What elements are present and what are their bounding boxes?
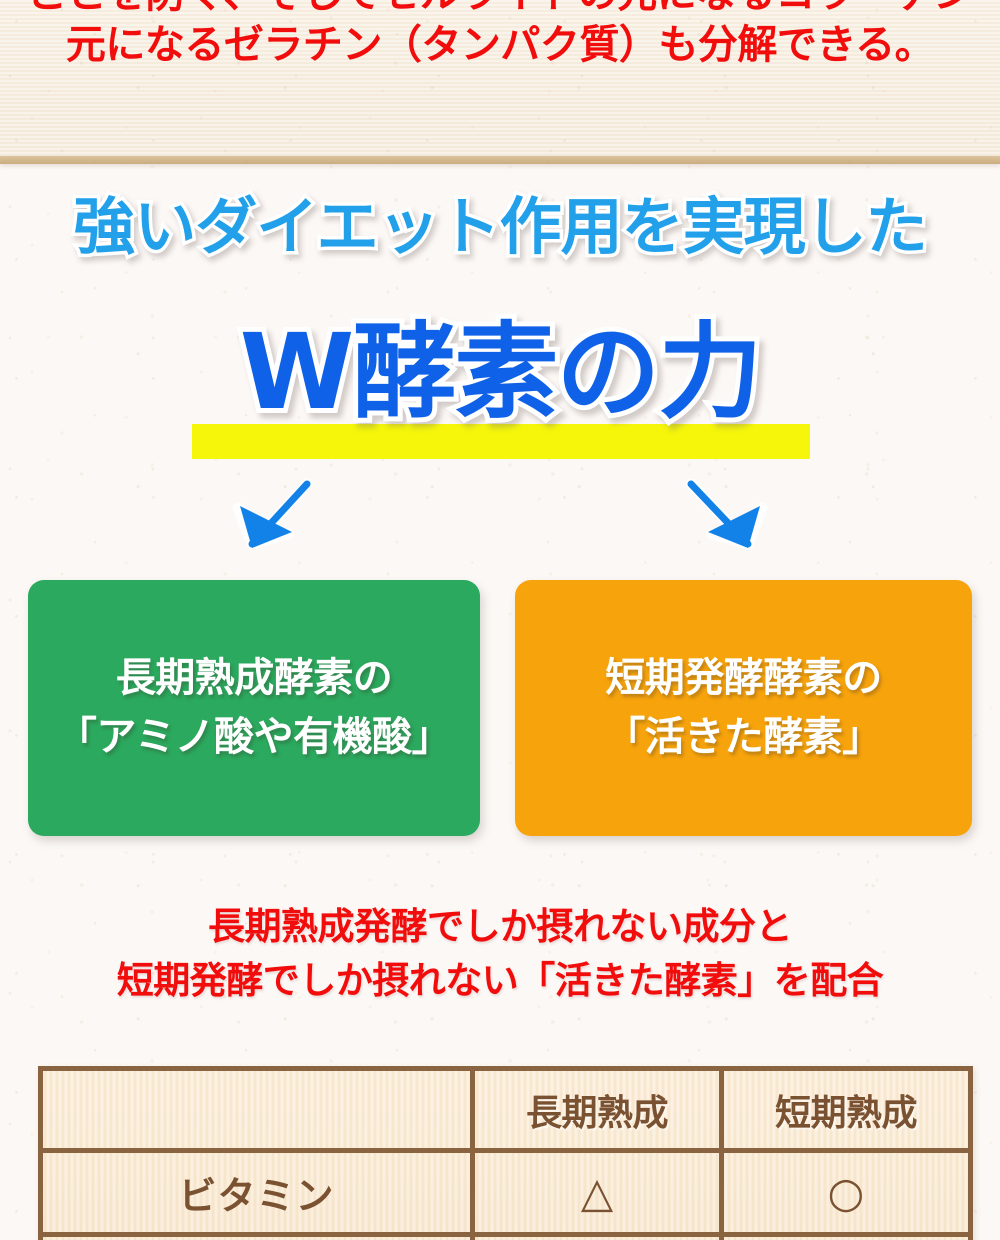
rating-mark: △ — [581, 1168, 613, 1217]
section-divider — [0, 156, 1000, 164]
table-cell-label: ビタミン — [41, 1151, 473, 1235]
headline-line-1: 強いダイエット作用を実現した — [0, 196, 1000, 258]
top-banner-line-2: 元になるゼラチン（タンパク質）も分解できる。 — [0, 25, 1000, 65]
card-short-fermented-line-2: 「活きた酵素」 — [605, 708, 882, 767]
rating-mark: ○ — [828, 1168, 865, 1217]
comparison-table-wrapper: 長期熟成 短期熟成 ビタミン △ ○ — [38, 1066, 968, 1240]
top-banner: ことを防ぐ、そしてセルライトの元になるコラーゲン 元になるゼラチン（タンパク質）… — [0, 0, 1000, 156]
arrow-down-left-icon — [240, 484, 307, 548]
comparison-table: 長期熟成 短期熟成 ビタミン △ ○ — [38, 1066, 973, 1240]
table-header-long-aged: 長期熟成 — [473, 1069, 722, 1151]
card-long-aged-enzyme: 長期熟成酵素の 「アミノ酸や有機酸」 — [28, 580, 480, 836]
emphasis-line-1: 長期熟成発酵でしか摂れない成分と — [0, 900, 1000, 954]
arrows-svg — [0, 462, 1000, 572]
headline-emphasis-block: W酵素の力 — [0, 318, 1000, 468]
card-short-fermented-line-1: 短期発酵酵素の — [605, 649, 882, 708]
table-cell-long-aged-clipped — [473, 1235, 722, 1240]
headline-block: 強いダイエット作用を実現した — [0, 196, 1000, 258]
table-header-blank — [41, 1069, 473, 1151]
emphasis-block: 長期熟成発酵でしか摂れない成分と 短期発酵でしか摂れない「活きた酵素」を配合 — [0, 900, 1000, 1007]
landing-page-section: ことを防ぐ、そしてセルライトの元になるコラーゲン 元になるゼラチン（タンパク質）… — [0, 0, 1000, 1240]
arrow-group — [0, 462, 1000, 572]
card-short-fermented-enzyme: 短期発酵酵素の 「活きた酵素」 — [515, 580, 972, 836]
arrow-down-right-icon — [691, 484, 760, 548]
card-long-aged-line-2: 「アミノ酸や有機酸」 — [57, 708, 451, 767]
table-cell-short-aged: ○ — [722, 1151, 971, 1235]
emphasis-line-2: 短期発酵でしか摂れない「活きた酵素」を配合 — [0, 954, 1000, 1008]
table-row: ビタミン △ ○ — [41, 1151, 971, 1235]
table-cell-label-clipped — [41, 1235, 473, 1240]
table-cell-short-aged-clipped — [722, 1235, 971, 1240]
top-banner-line-1: ことを防ぐ、そしてセルライトの元になるコラーゲン — [0, 0, 1000, 14]
card-long-aged-line-1: 長期熟成酵素の — [116, 649, 393, 708]
table-header-row: 長期熟成 短期熟成 — [41, 1069, 971, 1151]
headline-line-2: W酵素の力 — [0, 318, 1000, 427]
table-row-clipped — [41, 1235, 971, 1240]
table-header-short-aged: 短期熟成 — [722, 1069, 971, 1151]
table-cell-long-aged: △ — [473, 1151, 722, 1235]
